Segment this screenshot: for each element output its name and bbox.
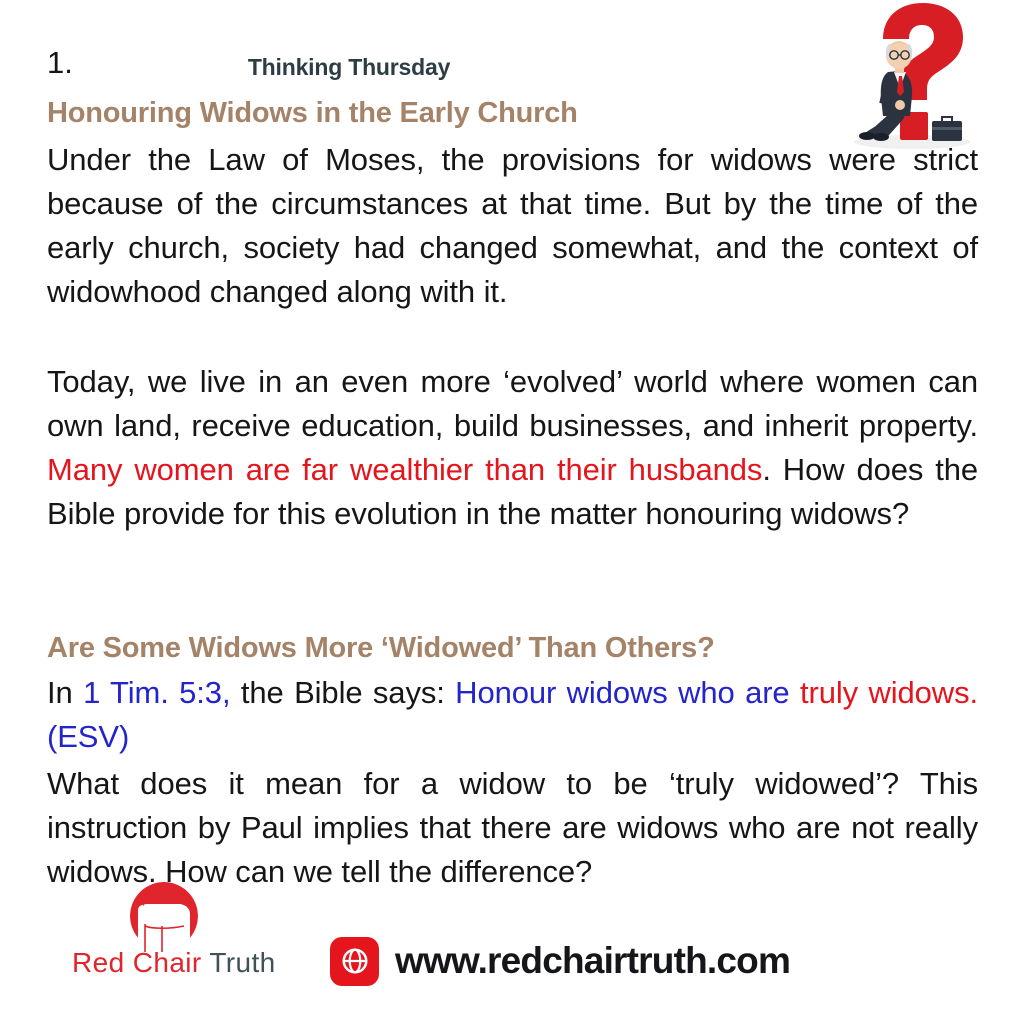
brand-wordmark-dark: Truth [202, 947, 276, 978]
scripture-line: In 1 Tim. 5:3, the Bible says: Honour wi… [47, 671, 978, 759]
scripture-reference[interactable]: 1 Tim. 5:3, [83, 675, 230, 710]
section-heading-2: Are Some Widows More ‘Widowed’ Than Othe… [47, 631, 715, 665]
brand-logo[interactable]: Red Chair Truth [72, 882, 264, 990]
red-chair-circle-mark [118, 882, 210, 952]
social-post-card: 1. Thinking Thursday Honouring Widows in… [0, 0, 1024, 1024]
website-link[interactable]: www.redchairtruth.com [330, 930, 790, 992]
question-mark-with-seated-businessman [826, 0, 996, 156]
website-url-text[interactable]: www.redchairtruth.com [395, 940, 790, 982]
paragraph-3-scripture: In 1 Tim. 5:3, the Bible says: Honour wi… [47, 671, 978, 759]
series-kicker: Thinking Thursday [47, 54, 651, 80]
paragraph-1: Under the Law of Moses, the provisions f… [47, 138, 978, 314]
scripture-quote-blue: Honour widows who are [455, 675, 800, 710]
section-heading-1: Honouring Widows in the Early Church [47, 96, 578, 130]
scripture-mid: the Bible says: [230, 675, 455, 710]
scripture-lead: In [47, 675, 83, 710]
paragraph-2-highlight: Many women are far wealthier than their … [47, 452, 762, 487]
brand-wordmark: Red Chair Truth [72, 946, 264, 980]
brand-wordmark-red: Red Chair [72, 947, 202, 978]
scripture-version: (ESV) [47, 719, 129, 754]
paragraph-2: Today, we live in an even more ‘evolved’… [47, 360, 978, 536]
scripture-period: . [970, 675, 979, 710]
scripture-quote-red: truly widows [800, 675, 970, 710]
globe-icon [330, 937, 379, 986]
paragraph-1-text: Under the Law of Moses, the provisions f… [47, 138, 978, 314]
paragraph-2-text: Today, we live in an even more ‘evolved’… [47, 360, 978, 536]
paragraph-2-lead: Today, we live in an even more ‘evolved’… [47, 364, 978, 443]
